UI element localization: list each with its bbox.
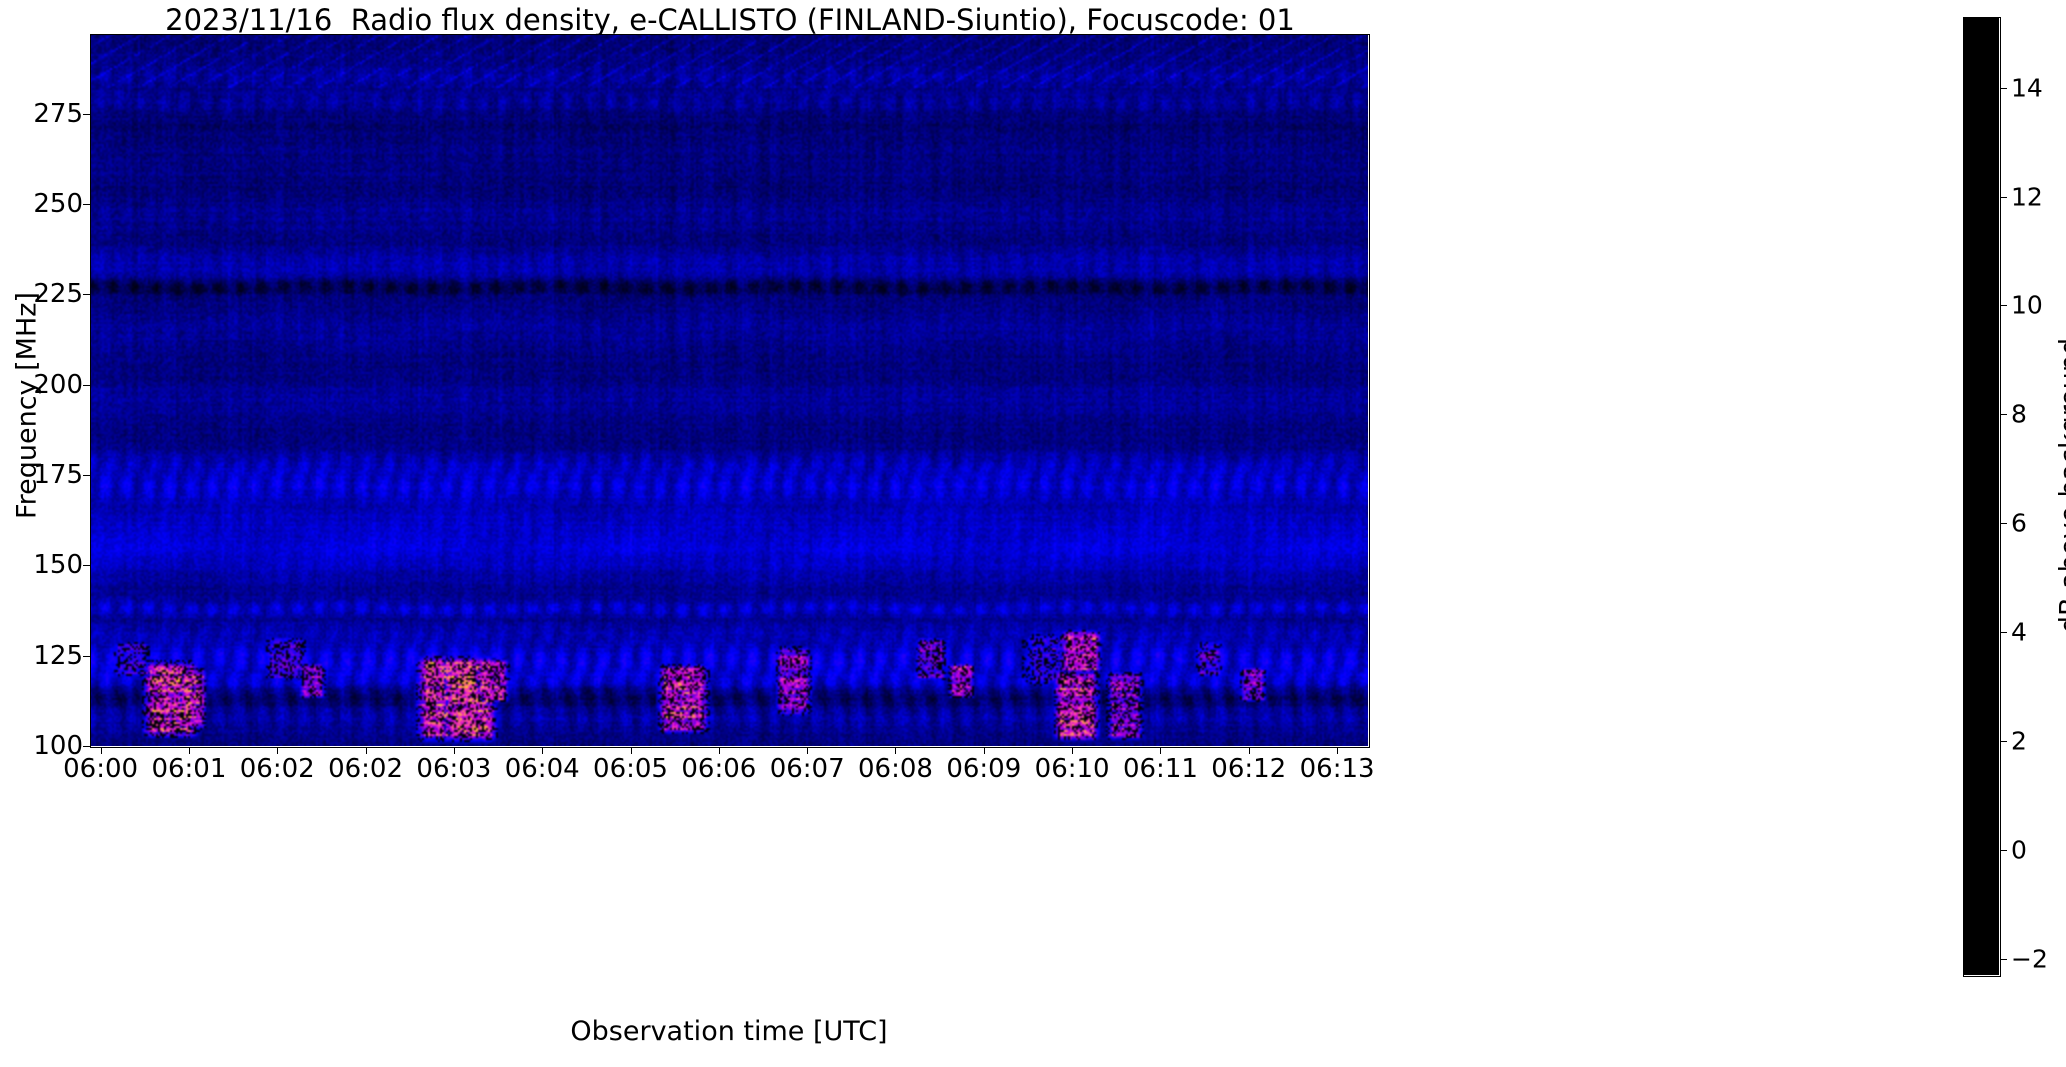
- spectrogram-image: [90, 34, 1368, 746]
- x-axis-tick-mark: [189, 747, 190, 754]
- y-axis-label: Frequency [MHz]: [12, 206, 43, 606]
- colorbar-tick-mark: [2000, 197, 2007, 198]
- x-axis-tick-label: 06:08: [858, 754, 933, 784]
- x-axis-tick-mark: [1160, 747, 1161, 754]
- x-axis-tick-label: 06:11: [1123, 754, 1198, 784]
- colorbar-tick-mark: [2000, 88, 2007, 89]
- x-axis-tick-mark: [454, 747, 455, 754]
- y-axis-tick-mark: [83, 385, 90, 386]
- colorbar-tick-label: 10: [2011, 291, 2043, 320]
- colorbar-tick-mark: [2000, 523, 2007, 524]
- y-axis-tick-mark: [83, 475, 90, 476]
- colorbar-tick-label: 12: [2011, 182, 2043, 211]
- y-axis-tick-mark: [83, 565, 90, 566]
- colorbar-tick-label: 8: [2011, 400, 2027, 429]
- colorbar-gradient: [1963, 17, 1999, 975]
- x-axis-tick-label: 06:12: [1211, 754, 1286, 784]
- y-axis-tick-mark: [83, 114, 90, 115]
- y-axis-tick-mark: [83, 746, 90, 747]
- x-axis-tick-label: 06:04: [505, 754, 580, 784]
- y-axis-tick-label: 275: [9, 99, 83, 129]
- x-axis-tick-mark: [984, 747, 985, 754]
- colorbar-tick-label: 14: [2011, 73, 2043, 102]
- x-axis-tick-label: 06:02: [328, 754, 403, 784]
- x-axis-tick-label: 06:01: [151, 754, 226, 784]
- x-axis-tick-mark: [807, 747, 808, 754]
- x-axis-label: Observation time [UTC]: [90, 1016, 1368, 1047]
- x-axis-tick-mark: [366, 747, 367, 754]
- x-axis-tick-mark: [277, 747, 278, 754]
- x-axis-tick-label: 06:03: [416, 754, 491, 784]
- x-axis-tick-label: 06:00: [63, 754, 138, 784]
- x-axis-tick-mark: [631, 747, 632, 754]
- y-axis-tick-mark: [83, 294, 90, 295]
- x-axis-tick-mark: [1072, 747, 1073, 754]
- page-title: 2023/11/16 Radio flux density, e-CALLIST…: [90, 4, 1370, 36]
- colorbar-tick-mark: [2000, 632, 2007, 633]
- x-axis-tick-mark: [895, 747, 896, 754]
- x-axis-tick-label: 06:05: [593, 754, 668, 784]
- x-axis-tick-label: 06:06: [681, 754, 756, 784]
- x-axis-tick-label: 06:09: [946, 754, 1021, 784]
- y-axis-tick-label: 125: [9, 641, 83, 671]
- colorbar-tick-mark: [2000, 414, 2007, 415]
- colorbar-tick-mark: [2000, 850, 2007, 851]
- colorbar-tick-mark: [2000, 741, 2007, 742]
- colorbar-tick-mark: [2000, 959, 2007, 960]
- x-axis-tick-mark: [1337, 747, 1338, 754]
- spectrogram-plot[interactable]: [90, 34, 1368, 746]
- colorbar[interactable]: [1963, 17, 1999, 975]
- colorbar-tick-label: 0: [2011, 835, 2027, 864]
- colorbar-tick-label: 6: [2011, 509, 2027, 538]
- colorbar-label: dB above background: [2055, 276, 2066, 696]
- x-axis-tick-label: 06:10: [1035, 754, 1110, 784]
- x-axis-tick-mark: [1249, 747, 1250, 754]
- colorbar-tick-mark: [2000, 305, 2007, 306]
- x-axis-tick-label: 06:07: [770, 754, 845, 784]
- y-axis-tick-mark: [83, 656, 90, 657]
- x-axis-tick-label: 06:02: [240, 754, 315, 784]
- colorbar-tick-label: 2: [2011, 726, 2027, 755]
- x-axis-tick-mark: [542, 747, 543, 754]
- colorbar-tick-label: 4: [2011, 618, 2027, 647]
- x-axis-tick-mark: [101, 747, 102, 754]
- x-axis-tick-mark: [719, 747, 720, 754]
- colorbar-tick-label: −2: [2011, 944, 2048, 973]
- x-axis-tick-label: 06:13: [1300, 754, 1375, 784]
- figure-canvas: 2023/11/16 Radio flux density, e-CALLIST…: [0, 0, 2066, 1067]
- y-axis-tick-mark: [83, 204, 90, 205]
